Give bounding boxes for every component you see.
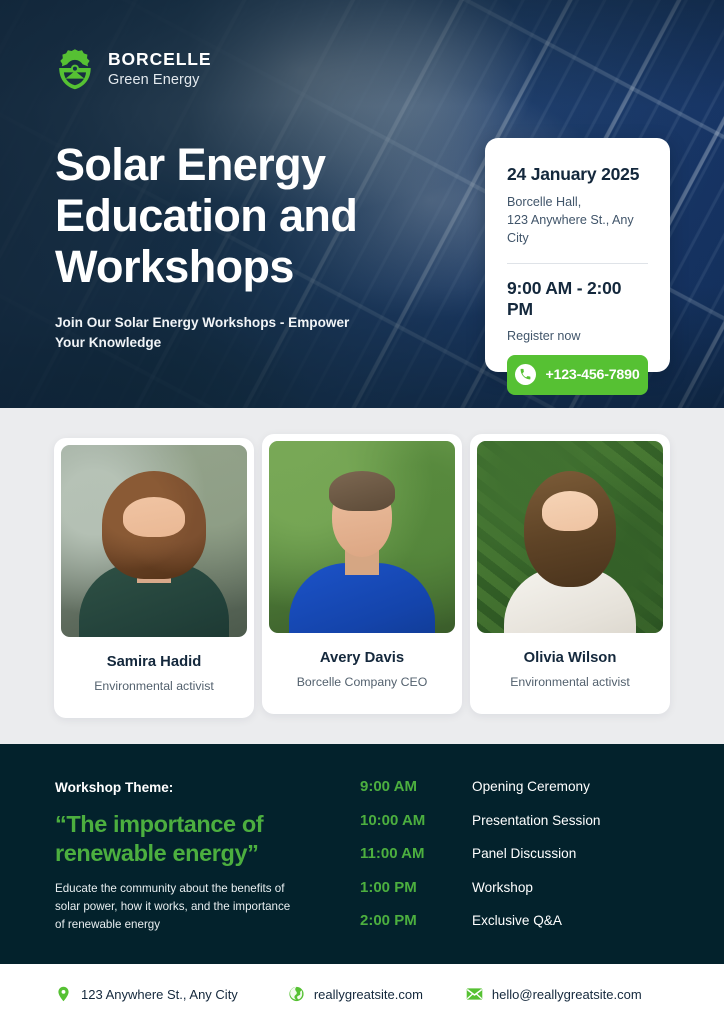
agenda-row: 9:00 AM Opening Ceremony	[360, 778, 690, 812]
phone-icon	[515, 364, 536, 385]
event-time-range: 9:00 AM - 2:00 PM	[507, 278, 648, 320]
agenda-time: 1:00 PM	[360, 879, 472, 896]
gear-solar-logo-icon	[55, 48, 95, 90]
venue-name: Borcelle Hall,	[507, 195, 581, 209]
speakers-section: Samira Hadid Environmental activist Aver…	[0, 408, 724, 744]
agenda-item: Exclusive Q&A	[472, 913, 562, 928]
brand-logo-text: BORCELLE Green Energy	[108, 51, 211, 88]
hero-subheadline: Join Our Solar Energy Workshops - Empowe…	[55, 313, 375, 352]
hero-banner: BORCELLE Green Energy Solar Energy Educa…	[0, 0, 724, 408]
speaker-photo	[61, 445, 247, 637]
brand-logo[interactable]: BORCELLE Green Energy	[55, 48, 211, 90]
agenda-time: 9:00 AM	[360, 778, 472, 795]
workshop-theme-description: Educate the community about the benefits…	[55, 880, 300, 934]
event-info-card: 24 January 2025 Borcelle Hall, 123 Anywh…	[485, 138, 670, 372]
brand-name: BORCELLE	[108, 51, 211, 69]
footer-address: 123 Anywhere St., Any City	[55, 985, 238, 1003]
speaker-role: Borcelle Company CEO	[269, 675, 455, 689]
venue-address: 123 Anywhere St., Any City	[507, 213, 634, 245]
speaker-photo	[477, 441, 663, 633]
speaker-photo	[269, 441, 455, 633]
brand-tagline: Green Energy	[108, 73, 211, 88]
workshop-theme-quote: “The importance of renewable energy”	[55, 810, 345, 867]
agenda-item: Opening Ceremony	[472, 779, 590, 794]
globe-icon	[288, 985, 305, 1003]
speaker-card[interactable]: Avery Davis Borcelle Company CEO	[262, 434, 462, 714]
agenda-time: 2:00 PM	[360, 912, 472, 929]
agenda-row: 1:00 PM Workshop	[360, 879, 690, 913]
agenda-item: Presentation Session	[472, 813, 600, 828]
workshop-theme-label: Workshop Theme:	[55, 780, 173, 795]
page-title: Solar Energy Education and Workshops	[55, 140, 455, 293]
agenda-row: 10:00 AM Presentation Session	[360, 812, 690, 846]
footer-website-text: reallygreatsite.com	[314, 987, 423, 1002]
speaker-name: Avery Davis	[269, 650, 455, 666]
footer: 123 Anywhere St., Any City reallygreatsi…	[0, 964, 724, 1024]
footer-email[interactable]: hello@reallygreatsite.com	[466, 985, 642, 1003]
agenda-item: Workshop	[472, 880, 533, 895]
agenda-row: 11:00 AM Panel Discussion	[360, 845, 690, 879]
speaker-role: Environmental activist	[61, 679, 247, 693]
event-date: 24 January 2025	[507, 164, 648, 185]
location-pin-icon	[55, 985, 72, 1003]
speaker-card[interactable]: Samira Hadid Environmental activist	[54, 438, 254, 718]
agenda-row: 2:00 PM Exclusive Q&A	[360, 912, 690, 946]
footer-website[interactable]: reallygreatsite.com	[288, 985, 423, 1003]
event-venue: Borcelle Hall, 123 Anywhere St., Any Cit…	[507, 194, 648, 248]
footer-address-text: 123 Anywhere St., Any City	[81, 987, 238, 1002]
footer-email-text: hello@reallygreatsite.com	[492, 987, 642, 1002]
schedule-section: Workshop Theme: “The importance of renew…	[0, 744, 724, 964]
agenda-time: 11:00 AM	[360, 845, 472, 862]
speaker-name: Samira Hadid	[61, 654, 247, 670]
speaker-role: Environmental activist	[477, 675, 663, 689]
agenda-time: 10:00 AM	[360, 812, 472, 829]
divider	[507, 263, 648, 264]
speaker-name: Olivia Wilson	[477, 650, 663, 666]
register-label: Register now	[507, 329, 648, 343]
phone-number: +123-456-7890	[545, 367, 639, 383]
agenda-item: Panel Discussion	[472, 846, 576, 861]
register-phone-button[interactable]: +123-456-7890	[507, 355, 648, 395]
envelope-icon	[466, 985, 483, 1003]
speaker-card[interactable]: Olivia Wilson Environmental activist	[470, 434, 670, 714]
agenda-list: 9:00 AM Opening Ceremony 10:00 AM Presen…	[360, 778, 690, 946]
